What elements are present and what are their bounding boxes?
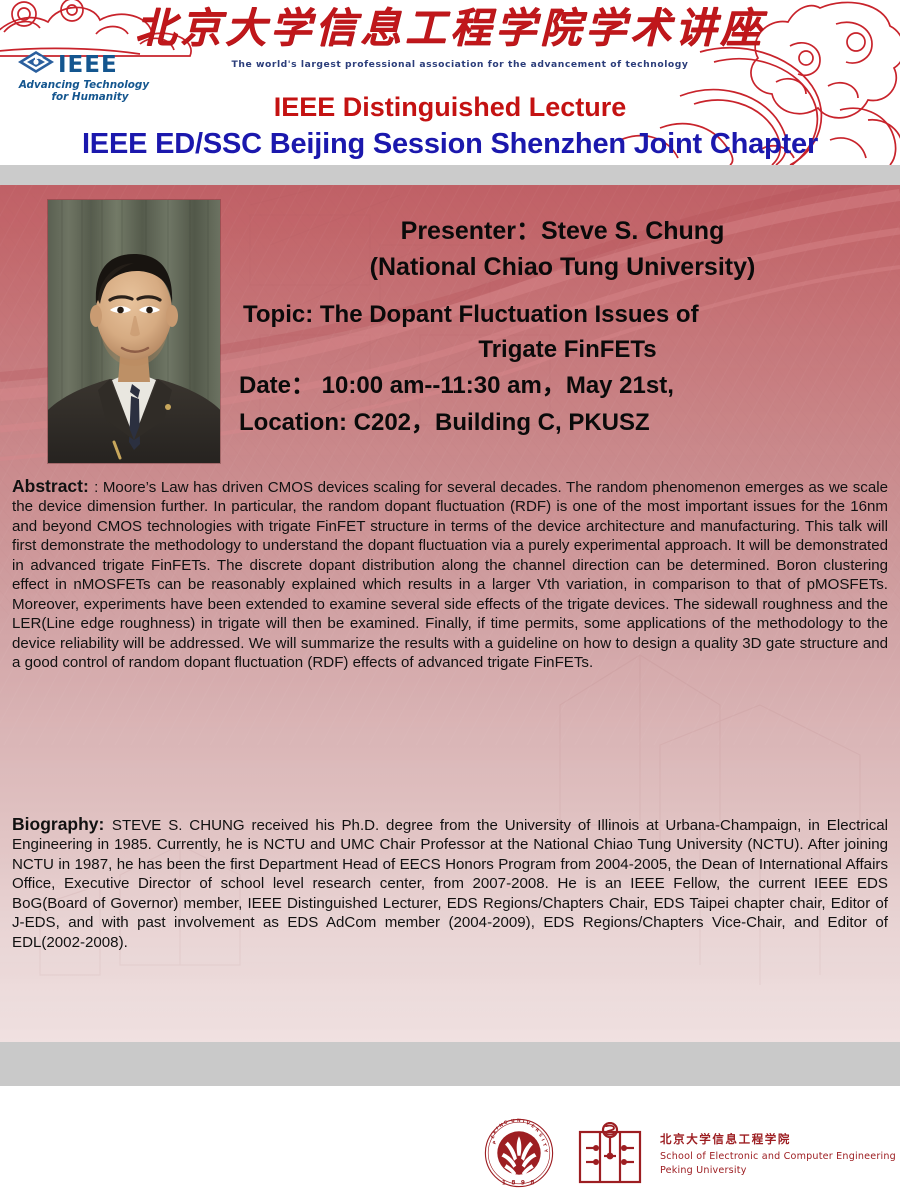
abstract-section: Abstract: : Moore’s Law has driven CMOS … bbox=[12, 477, 888, 673]
svg-text:T: T bbox=[541, 1143, 548, 1148]
svg-text:Y: Y bbox=[542, 1148, 549, 1154]
ieee-tagline: The world's largest professional associa… bbox=[190, 59, 730, 70]
svg-text:Advancing Technology: Advancing Technology bbox=[18, 79, 151, 91]
date-line: Date： 10:00 am--11:30 am，May 21st, bbox=[235, 367, 890, 405]
svg-text:N: N bbox=[517, 1118, 522, 1124]
svg-text:U: U bbox=[511, 1118, 515, 1124]
presenter-line: Presenter：Steve S. Chung bbox=[235, 213, 890, 249]
peking-university-seal-icon: P E K I N G U N I V E R S I T Y 1 8 9 8 bbox=[484, 1118, 554, 1188]
footer-org-en-line1: School of Electronic and Computer Engine… bbox=[660, 1151, 896, 1162]
presenter-photo bbox=[48, 200, 220, 463]
lecture-poster: 北京大学信息工程学院学术讲座 IEEE Advancing Technology… bbox=[0, 0, 900, 1200]
page-title: 北京大学信息工程学院学术讲座 bbox=[0, 2, 900, 54]
location-line: Location: C202，Building C, PKUSZ bbox=[235, 405, 890, 441]
footer-divider-band bbox=[0, 1042, 900, 1086]
affiliation-line: (National Chiao Tung University) bbox=[235, 249, 890, 285]
svg-text:G: G bbox=[503, 1119, 508, 1126]
svg-text:IEEE: IEEE bbox=[58, 52, 118, 78]
abstract-label: Abstract: bbox=[12, 476, 94, 496]
svg-text:P: P bbox=[492, 1140, 499, 1146]
abstract-text: : Moore’s Law has driven CMOS devices sc… bbox=[12, 479, 888, 671]
topic-line-2: Trigate FinFETs bbox=[235, 333, 890, 367]
footer-org-en-line2: Peking University bbox=[660, 1165, 747, 1176]
lecture-info-block: Presenter：Steve S. Chung (National Chiao… bbox=[235, 213, 890, 441]
poster-body: Presenter：Steve S. Chung (National Chiao… bbox=[0, 185, 900, 1042]
poster-header: 北京大学信息工程学院学术讲座 IEEE Advancing Technology… bbox=[0, 0, 900, 165]
header-divider-band bbox=[0, 165, 900, 185]
topic-line-1: Topic: The Dopant Fluctuation Issues of bbox=[235, 297, 890, 333]
svg-text:I: I bbox=[540, 1138, 546, 1143]
lecture-series-title: IEEE Distinguished Lecture bbox=[0, 92, 900, 123]
biography-section: Biography: STEVE S. CHUNG received his P… bbox=[12, 815, 888, 952]
sece-school-logo-icon bbox=[578, 1122, 642, 1184]
seal-year: 1 8 9 8 bbox=[502, 1181, 536, 1187]
biography-text: STEVE S. CHUNG received his Ph.D. degree… bbox=[12, 817, 888, 951]
footer-org-cn: 北京大学信息工程学院 bbox=[660, 1131, 791, 1147]
chapter-title: IEEE ED/SSC Beijing Session Shenzhen Joi… bbox=[0, 128, 900, 161]
biography-label: Biography: bbox=[12, 814, 112, 834]
